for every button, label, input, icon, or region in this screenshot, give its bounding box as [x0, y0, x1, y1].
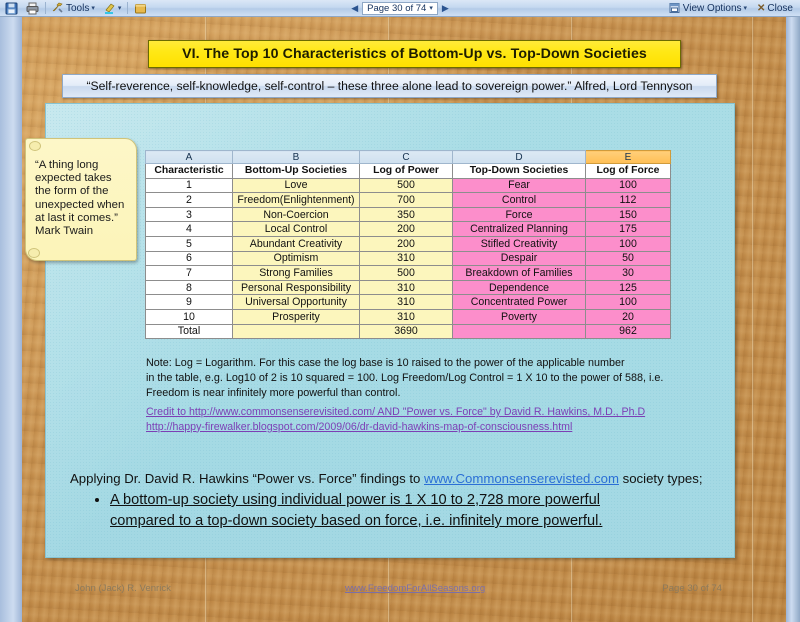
table-row: 2 Freedom(Enlightenment) 700 Control 112	[146, 193, 671, 208]
table-row: 5 Abundant Creativity 200 Stifled Creati…	[146, 236, 671, 251]
cell-characteristic: 3	[146, 207, 233, 222]
cell-characteristic: 7	[146, 266, 233, 281]
table-row: 1 Love 500 Fear 100	[146, 178, 671, 193]
wood-seam-4	[752, 17, 754, 622]
table-head: A B C D E Characteristic Bottom-Up Socie…	[146, 151, 671, 179]
cell-top-down: Breakdown of Families	[453, 266, 586, 281]
cell-log-force: 20	[586, 309, 671, 324]
conclusion-lead: Applying Dr. David R. Hawkins “Power vs.…	[70, 470, 710, 487]
table-row: 7 Strong Families 500 Breakdown of Famil…	[146, 266, 671, 281]
table-row: 6 Optimism 310 Despair 50	[146, 251, 671, 266]
header-characteristic: Characteristic	[146, 164, 233, 179]
footer-author: John (Jack) R. Venrick	[75, 583, 171, 594]
cell-bottom-up: Prosperity	[233, 309, 360, 324]
cell-total-label: Total	[146, 324, 233, 339]
header-log-of-force: Log of Force	[586, 164, 671, 179]
cell-top-down: Concentrated Power	[453, 295, 586, 310]
cell-total-log-force: 962	[586, 324, 671, 339]
next-page-button[interactable]: ▶	[442, 3, 449, 14]
cell-characteristic: 1	[146, 178, 233, 193]
cell-bottom-up: Non-Coercion	[233, 207, 360, 222]
cell-bottom-up: Strong Families	[233, 266, 360, 281]
cell-log-force: 175	[586, 222, 671, 237]
cell-characteristic: 9	[146, 295, 233, 310]
table-notes: Note: Log = Logarithm. For this case the…	[146, 356, 670, 402]
header-log-of-power: Log of Power	[360, 164, 453, 179]
cell-characteristic: 5	[146, 236, 233, 251]
table-body: 1 Love 500 Fear 100 2 Freedom(Enlightenm…	[146, 178, 671, 339]
cell-bottom-up: Universal Opportunity	[233, 295, 360, 310]
cell-log-power: 310	[360, 309, 453, 324]
cell-log-power: 700	[360, 193, 453, 208]
table-row: 8 Personal Responsibility 310 Dependence…	[146, 280, 671, 295]
cell-bottom-up: Local Control	[233, 222, 360, 237]
blog-link[interactable]: http://happy-firewalker.blogspot.com/200…	[146, 420, 670, 435]
table-row: 4 Local Control 200 Centralized Planning…	[146, 222, 671, 237]
cell-log-force: 100	[586, 236, 671, 251]
conclusion-bullets: A bottom-up society using individual pow…	[92, 490, 712, 532]
cell-characteristic: 6	[146, 251, 233, 266]
column-letter-b[interactable]: B	[233, 151, 360, 164]
chevron-down-icon-3[interactable]: ▾	[429, 4, 433, 12]
note-line-2: in the table, e.g. Log10 of 2 is 10 squa…	[146, 371, 670, 386]
cell-total-top-down	[453, 324, 586, 339]
cell-bottom-up: Love	[233, 178, 360, 193]
header-bottom-up-societies: Bottom-Up Societies	[233, 164, 360, 179]
note-line-3: Freedom is near infinitely more powerful…	[146, 386, 670, 401]
cell-characteristic: 8	[146, 280, 233, 295]
table-row: 9 Universal Opportunity 310 Concentrated…	[146, 295, 671, 310]
cell-top-down: Fear	[453, 178, 586, 193]
column-letter-c[interactable]: C	[360, 151, 453, 164]
reader-left-edge	[0, 17, 22, 622]
cell-total-log-power: 3690	[360, 324, 453, 339]
note-curl-top-left-icon	[29, 141, 41, 151]
column-letter-row: A B C D E	[146, 151, 671, 164]
cell-characteristic: 2	[146, 193, 233, 208]
reader-right-scrollbar[interactable]	[786, 17, 800, 622]
sticky-note: “A thing long expected takes the form of…	[25, 138, 137, 261]
table: A B C D E Characteristic Bottom-Up Socie…	[145, 150, 671, 339]
cell-characteristic: 4	[146, 222, 233, 237]
cell-log-force: 150	[586, 207, 671, 222]
cell-bottom-up: Abundant Creativity	[233, 236, 360, 251]
commonsenserevisted-link[interactable]: www.Commonsenserevisted.com	[424, 471, 619, 486]
cell-bottom-up: Freedom(Enlightenment)	[233, 193, 360, 208]
cell-log-force: 30	[586, 266, 671, 281]
sticky-note-text: “A thing long expected takes the form of…	[35, 159, 129, 238]
cell-top-down: Despair	[453, 251, 586, 266]
cell-log-power: 500	[360, 178, 453, 193]
cell-top-down: Centralized Planning	[453, 222, 586, 237]
characteristics-table: A B C D E Characteristic Bottom-Up Socie…	[145, 150, 670, 339]
column-header-row: Characteristic Bottom-Up Societies Log o…	[146, 164, 671, 179]
page-indicator-label: Page 30 of 74	[367, 3, 426, 14]
cell-top-down: Control	[453, 193, 586, 208]
column-letter-d[interactable]: D	[453, 151, 586, 164]
page-indicator[interactable]: Page 30 of 74 ▾	[362, 2, 438, 15]
cell-bottom-up: Optimism	[233, 251, 360, 266]
column-letter-a[interactable]: A	[146, 151, 233, 164]
column-letter-e-selected[interactable]: E	[586, 151, 671, 164]
prev-page-button[interactable]: ◀	[351, 3, 358, 14]
cell-log-power: 310	[360, 251, 453, 266]
cell-bottom-up: Personal Responsibility	[233, 280, 360, 295]
cell-top-down: Poverty	[453, 309, 586, 324]
bullet-line-2: compared to a top-down society based on …	[110, 513, 602, 529]
header-top-down-societies: Top-Down Societies	[453, 164, 586, 179]
cell-log-power: 350	[360, 207, 453, 222]
reader-toolbar: Tools ▾ ▾ ◀ Page 30 of 74 ▾ ▶ View	[0, 0, 800, 17]
cell-log-force: 125	[586, 280, 671, 295]
table-total-row: Total 3690 962	[146, 324, 671, 339]
conclusion-lead-after: society types;	[619, 471, 703, 486]
cell-log-power: 200	[360, 222, 453, 237]
note-line-1: Note: Log = Logarithm. For this case the…	[146, 356, 670, 371]
cell-log-power: 500	[360, 266, 453, 281]
footer-url[interactable]: www.FreedomForAllSeasons.org	[345, 583, 485, 594]
toolbar-pager: ◀ Page 30 of 74 ▾ ▶	[0, 2, 800, 15]
cell-characteristic: 10	[146, 309, 233, 324]
conclusion-lead-before: Applying Dr. David R. Hawkins “Power vs.…	[70, 471, 424, 486]
list-item: A bottom-up society using individual pow…	[110, 490, 712, 532]
bullet-line-1: A bottom-up society using individual pow…	[110, 492, 600, 508]
note-curl-bottom-left-icon	[28, 248, 40, 258]
cell-total-bottom-up	[233, 324, 360, 339]
cell-top-down: Force	[453, 207, 586, 222]
cell-log-force: 50	[586, 251, 671, 266]
table-row: 3 Non-Coercion 350 Force 150	[146, 207, 671, 222]
cell-top-down: Stifled Creativity	[453, 236, 586, 251]
cell-log-power: 310	[360, 295, 453, 310]
cell-log-force: 100	[586, 295, 671, 310]
table-row: 10 Prosperity 310 Poverty 20	[146, 309, 671, 324]
cell-log-force: 100	[586, 178, 671, 193]
cell-log-power: 310	[360, 280, 453, 295]
credit-link[interactable]: Credit to http://www.commonsenserevisite…	[146, 405, 670, 420]
cell-log-power: 200	[360, 236, 453, 251]
cell-log-force: 112	[586, 193, 671, 208]
cell-top-down: Dependence	[453, 280, 586, 295]
footer-page-number: Page 30 of 74	[662, 583, 722, 594]
page-title: VI. The Top 10 Characteristics of Bottom…	[148, 40, 681, 68]
credit-links: Credit to http://www.commonsenserevisite…	[146, 405, 670, 434]
tennyson-quote-bar: “Self-reverence, self-knowledge, self-co…	[62, 74, 717, 98]
